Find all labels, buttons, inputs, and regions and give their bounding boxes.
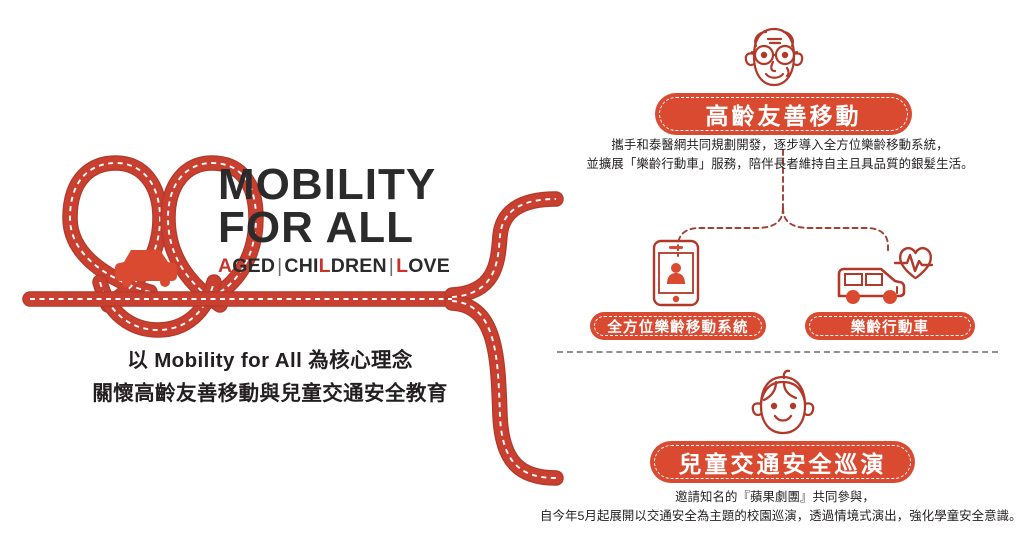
subtitle-children-rest: DREN <box>331 255 387 277</box>
elderly-man-face-icon <box>737 22 811 92</box>
logo-left-loop <box>70 163 160 305</box>
subtitle-children-chi: CHI <box>284 255 318 277</box>
subtitle-aged-rest: GED <box>232 255 275 277</box>
smartphone-user-app-icon <box>650 238 702 308</box>
logo-wordmark: MOBILITY FOR ALL AGED|CHILDREN|LOVE <box>218 163 458 278</box>
children-description: 邀請知名的『蘋果劇團』共同參與， 自今年5月起展開以交通安全為主題的校園巡演，透… <box>540 488 1010 526</box>
elderly-description: 攜手和泰醫網共同規劃開發，逐步導入全方位樂齡移動系統， 並擴展「樂齡行動車」服務… <box>560 136 1000 174</box>
subtitle-love-l: L <box>396 255 408 277</box>
children-description-line-2: 自今年5月起展開以交通安全為主題的校園巡演，透過情境式演出，強化學童安全意識。 <box>540 507 1010 526</box>
badge-comprehensive-senior-mobility-system[interactable]: 全方位樂齡移動系統 <box>590 312 766 340</box>
subtitle-separator-2: | <box>387 255 396 277</box>
logo-bottom-arc <box>100 282 214 330</box>
child-face-icon <box>748 368 818 440</box>
subtitle-children-l: L <box>319 255 331 277</box>
infographic-canvas: .roadbase { fill:none; stroke:#c94030; s… <box>0 0 1024 554</box>
wordmark-line-2: FOR ALL <box>218 206 458 249</box>
children-description-line-1: 邀請知名的『蘋果劇團』共同參與， <box>540 488 1010 507</box>
van-heartbeat-icon <box>833 240 933 308</box>
tagline-line-1: 以 Mobility for All 為核心理念 <box>40 344 500 377</box>
logo-car-icon <box>115 250 177 287</box>
badge-elderly-friendly-mobility[interactable]: 高齡友善移動 <box>655 93 912 135</box>
subtitle-aged-a: A <box>218 255 232 277</box>
elderly-description-line-2: 並擴展「樂齡行動車」服務，陪伴長者維持自主且具品質的銀髮生活。 <box>560 155 1000 174</box>
tagline-block: 以 Mobility for All 為核心理念 關懷高齡友善移動與兒童交通安全… <box>40 344 500 410</box>
elderly-description-line-1: 攜手和泰醫網共同規劃開發，逐步導入全方位樂齡移動系統， <box>560 136 1000 155</box>
wordmark-subtitle: AGED|CHILDREN|LOVE <box>218 255 458 278</box>
section-separator <box>557 351 998 353</box>
wordmark-line-1: MOBILITY <box>218 163 458 206</box>
badge-children-traffic-safety-tour[interactable]: 兒童交通安全巡演 <box>650 441 915 483</box>
tagline-line-2: 關懷高齡友善移動與兒童交通安全教育 <box>40 377 500 410</box>
badge-senior-mobility-vehicle[interactable]: 樂齡行動車 <box>805 312 975 340</box>
subtitle-love-rest: OVE <box>408 255 450 277</box>
